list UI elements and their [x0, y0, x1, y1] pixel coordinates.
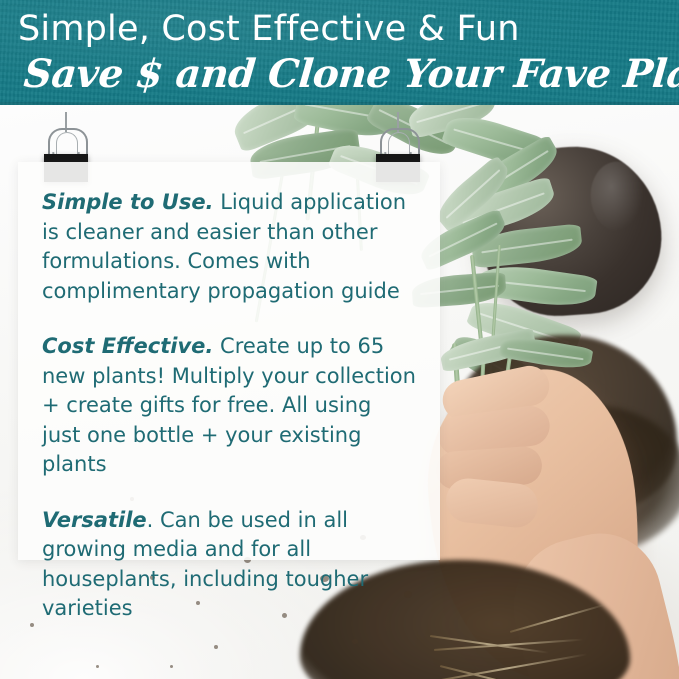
feature-lead: Cost Effective.: [42, 334, 213, 358]
headline-primary: Simple, Cost Effective & Fun: [18, 8, 520, 50]
root-strands: [430, 625, 679, 679]
feature-item-versatile: Versatile. Can be used in all growing me…: [42, 506, 416, 624]
feature-item-cost-effective: Cost Effective. Create up to 65 new plan…: [42, 332, 416, 480]
header-banner: Simple, Cost Effective & Fun Save $ and …: [0, 0, 679, 105]
feature-lead: Versatile: [42, 508, 147, 532]
feature-lead: Simple to Use.: [42, 190, 214, 214]
feature-card: Simple to Use. Liquid application is cle…: [18, 162, 440, 560]
feature-card-content: Simple to Use. Liquid application is cle…: [18, 162, 440, 624]
feature-item-simple-to-use: Simple to Use. Liquid application is cle…: [42, 188, 416, 306]
headline-script: Save $ and Clone Your Fave Plants!: [22, 50, 679, 98]
product-infographic: Simple, Cost Effective & Fun Save $ and …: [0, 0, 679, 679]
